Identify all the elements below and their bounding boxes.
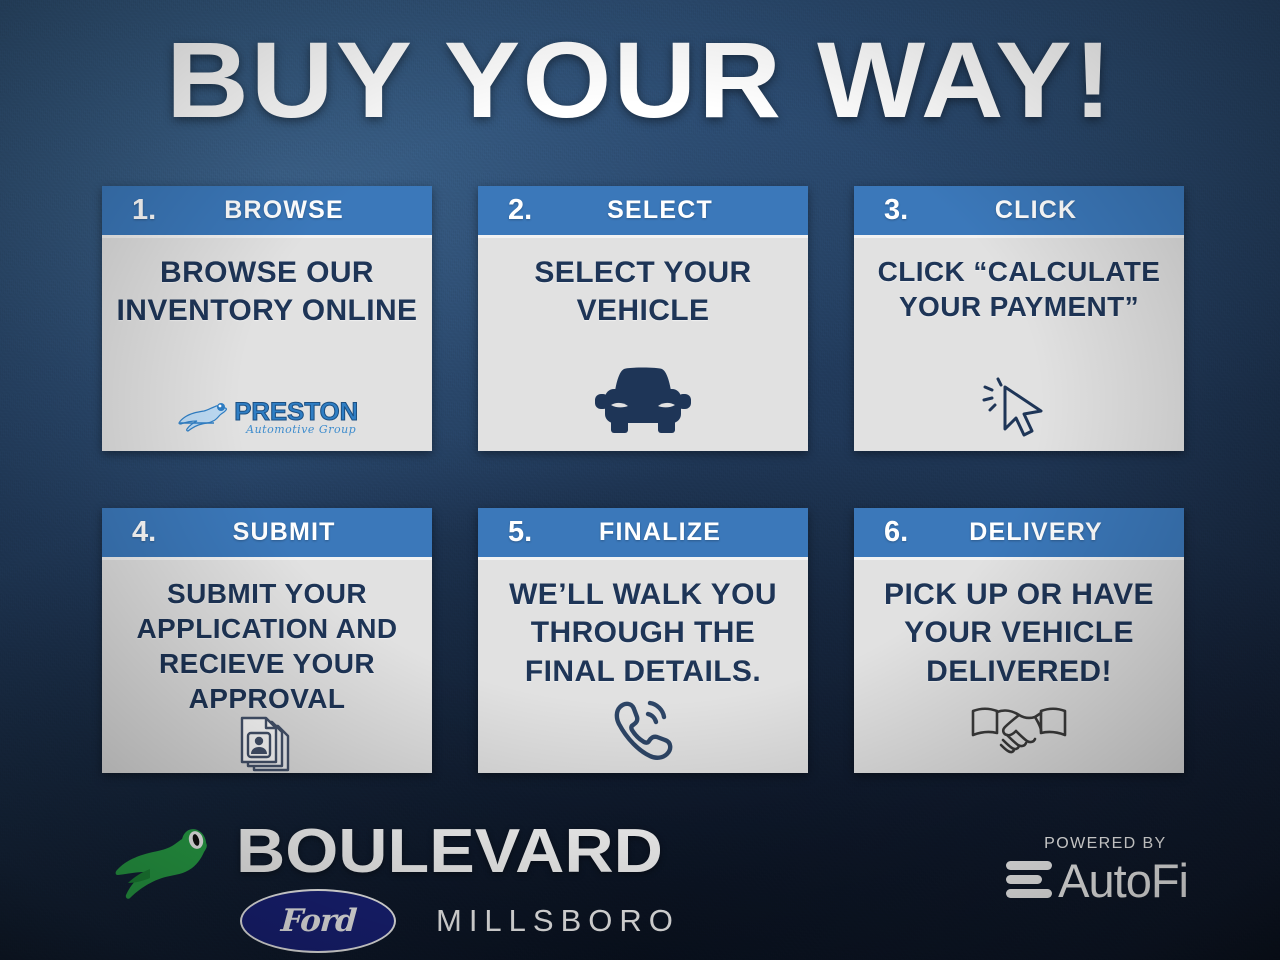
page-title: BUY YOUR WAY! [0, 26, 1280, 134]
autofi-logo[interactable]: POWERED BY AutoFi [1006, 835, 1188, 904]
step-6-title: DELIVERY [916, 520, 1170, 545]
step-5-icon-wrap [490, 697, 796, 763]
handshake-icon [967, 699, 1071, 761]
step-6-header: 6. DELIVERY [854, 508, 1184, 560]
preston-automotive-group-logo: PRESTON Automotive Group [178, 400, 356, 441]
autofi-wordmark: AutoFi [1058, 857, 1188, 904]
boulevard-text-block: BOULEVARD Ford MILLSBORO [236, 821, 680, 953]
step-5-header: 5. FINALIZE [478, 508, 808, 560]
step-5-body: WE’LL WALK YOU THROUGH THE FINAL DETAILS… [478, 560, 808, 773]
car-front-icon [591, 361, 695, 439]
step-2-body: SELECT YOUR VEHICLE [478, 238, 808, 451]
step-card-4[interactable]: 4. SUBMIT SUBMIT YOUR APPLICATION AND RE… [102, 508, 432, 773]
step-2-text: SELECT YOUR VEHICLE [490, 254, 796, 331]
preston-name: PRESTON [234, 400, 358, 425]
step-1-text: BROWSE OUR INVENTORY ONLINE [114, 254, 420, 331]
phone-call-icon [606, 697, 680, 761]
step-6-body: PICK UP OR HAVE YOUR VEHICLE DELIVERED! [854, 560, 1184, 773]
steps-grid: 1. BROWSE BROWSE OUR INVENTORY ONLINE PR… [102, 186, 1184, 773]
footer: BOULEVARD Ford MILLSBORO POWERED BY Auto… [0, 805, 1280, 960]
step-2-header: 2. SELECT [478, 186, 808, 238]
step-card-3[interactable]: 3. CLICK CLICK “CALCULATE YOUR PAYMENT” [854, 186, 1184, 451]
preston-wordmark: PRESTON Automotive Group [236, 400, 356, 435]
step-4-text: SUBMIT YOUR APPLICATION AND RECIEVE YOUR… [114, 576, 420, 716]
step-4-icon-wrap [114, 716, 420, 773]
dealer-city: MILLSBORO [436, 903, 680, 939]
poster: BUY YOUR WAY! 1. BROWSE BROWSE OUR INVEN… [0, 0, 1280, 960]
step-5-text: WE’LL WALK YOU THROUGH THE FINAL DETAILS… [490, 576, 796, 691]
step-5-number: 5. [508, 518, 532, 547]
preston-frog-icon [178, 401, 232, 435]
step-1-number: 1. [132, 196, 156, 225]
step-1-body: BROWSE OUR INVENTORY ONLINE PRESTON Auto… [102, 238, 432, 451]
step-card-5[interactable]: 5. FINALIZE WE’LL WALK YOU THROUGH THE F… [478, 508, 808, 773]
ford-millsboro-row: Ford MILLSBORO [236, 889, 680, 953]
step-1-header: 1. BROWSE [102, 186, 432, 238]
autofi-row: AutoFi [1006, 857, 1188, 904]
step-card-1[interactable]: 1. BROWSE BROWSE OUR INVENTORY ONLINE PR… [102, 186, 432, 451]
step-4-number: 4. [132, 518, 156, 547]
boulevard-ford-logo[interactable]: BOULEVARD Ford MILLSBORO [110, 821, 680, 953]
dealer-name: BOULEVARD [236, 821, 724, 883]
step-5-title: FINALIZE [540, 520, 794, 545]
step-2-number: 2. [508, 196, 532, 225]
step-1-title: BROWSE [164, 198, 418, 223]
step-3-icon-wrap [866, 377, 1172, 441]
autofi-bars-icon [1006, 861, 1052, 898]
step-6-number: 6. [884, 518, 908, 547]
step-4-body: SUBMIT YOUR APPLICATION AND RECIEVE YOUR… [102, 560, 432, 773]
step-3-number: 3. [884, 196, 908, 225]
ford-wordmark: Ford [279, 906, 356, 937]
step-3-title: CLICK [916, 198, 1170, 223]
ford-oval-logo: Ford [240, 889, 396, 953]
step-4-title: SUBMIT [164, 520, 418, 545]
step-card-6[interactable]: 6. DELIVERY PICK UP OR HAVE YOUR VEHICLE… [854, 508, 1184, 773]
step-2-icon-wrap [490, 361, 796, 441]
step-6-text: PICK UP OR HAVE YOUR VEHICLE DELIVERED! [866, 576, 1172, 691]
cursor-click-icon [979, 377, 1059, 439]
step-4-header: 4. SUBMIT [102, 508, 432, 560]
step-3-text: CLICK “CALCULATE YOUR PAYMENT” [866, 254, 1172, 324]
step-2-title: SELECT [540, 198, 794, 223]
application-documents-icon [234, 716, 300, 773]
step-card-2[interactable]: 2. SELECT SELECT YOUR VEHICLE [478, 186, 808, 451]
step-6-icon-wrap [866, 699, 1172, 763]
green-frog-logo [110, 829, 222, 921]
powered-by-label: POWERED BY [1044, 835, 1166, 853]
step-3-body: CLICK “CALCULATE YOUR PAYMENT” [854, 238, 1184, 451]
step-3-header: 3. CLICK [854, 186, 1184, 238]
